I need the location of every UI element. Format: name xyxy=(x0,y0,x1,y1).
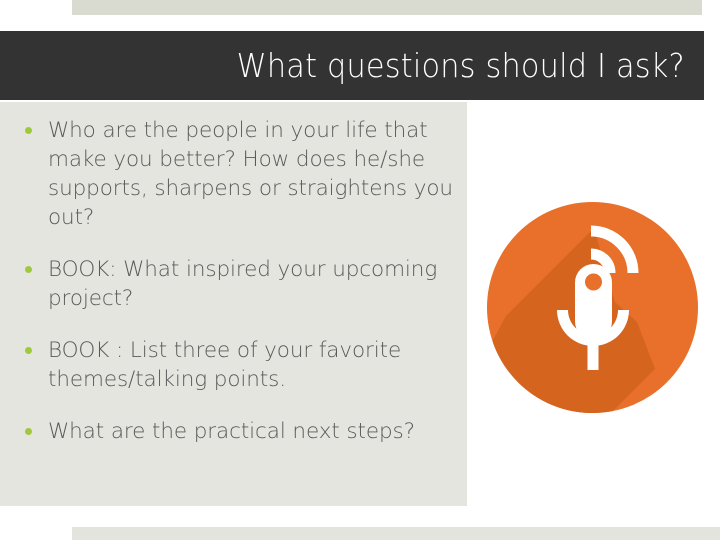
bullet-dot-icon xyxy=(25,127,32,134)
list-item-text: Who are the people in your life that mak… xyxy=(48,118,453,230)
bullet-dot-icon xyxy=(25,266,32,273)
list-item: What are the practical next steps? xyxy=(0,417,467,446)
list-item: BOOK : List three of your favorite theme… xyxy=(0,336,467,394)
list-item: Who are the people in your life that mak… xyxy=(0,116,467,232)
top-accent-band xyxy=(72,0,702,15)
bullet-dot-icon xyxy=(25,428,32,435)
slide-title-bar: What questions should I ask? xyxy=(0,31,704,100)
list-item-text: BOOK: What inspired your upcoming projec… xyxy=(48,257,437,311)
microphone-podcast-icon xyxy=(487,202,698,413)
list-item-text: What are the practical next steps? xyxy=(48,419,415,444)
content-panel: Who are the people in your life that mak… xyxy=(0,102,467,506)
list-item: BOOK: What inspired your upcoming projec… xyxy=(0,255,467,313)
list-item-text: BOOK : List three of your favorite theme… xyxy=(48,338,401,392)
bullet-dot-icon xyxy=(25,347,32,354)
bottom-accent-band xyxy=(72,527,720,540)
question-bullet-list: Who are the people in your life that mak… xyxy=(0,116,467,446)
slide-canvas: What questions should I ask? Who are the… xyxy=(0,0,720,540)
page-title: What questions should I ask? xyxy=(237,46,704,85)
